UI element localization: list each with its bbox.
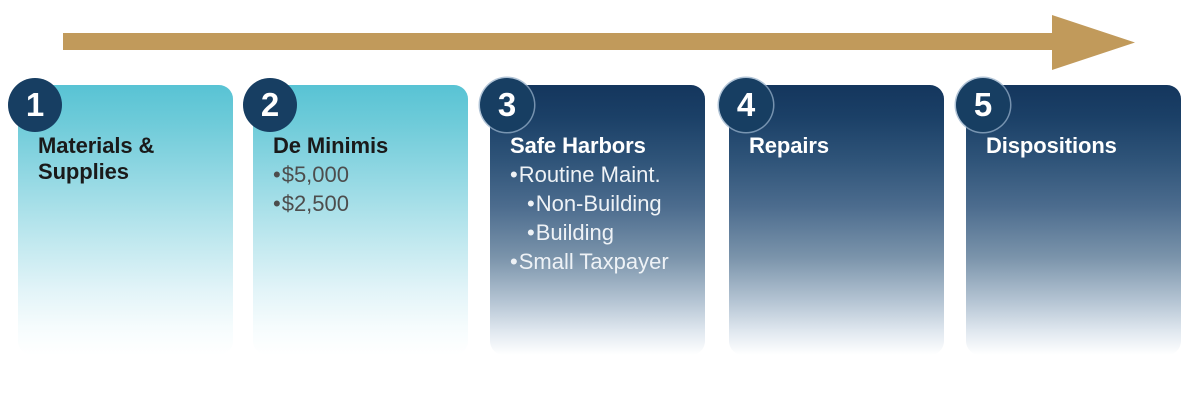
arrow-svg — [0, 0, 1200, 90]
bullet-dot-icon: • — [273, 191, 281, 216]
step-bullet-label: Routine Maint. — [519, 162, 661, 187]
step-title: Materials & Supplies — [38, 133, 225, 185]
step-bullet-label: Small Taxpayer — [519, 249, 669, 274]
step-card-body: De Minimis•$5,000•$2,500 — [273, 133, 460, 218]
process-flow-arrow — [0, 0, 1200, 90]
step-bullet-item: •Non-Building — [510, 189, 697, 218]
bullet-dot-icon: • — [527, 191, 535, 216]
step-bullet-item: •$5,000 — [273, 160, 460, 189]
step-bullet-list: •$5,000•$2,500 — [273, 160, 460, 218]
bullet-dot-icon: • — [273, 162, 281, 187]
step-bullet-label: $5,000 — [282, 162, 349, 187]
step-bullet-item: •$2,500 — [273, 189, 460, 218]
step-bullet-item: •Small Taxpayer — [510, 247, 697, 276]
step-bullet-item: •Building — [510, 218, 697, 247]
step-bullet-item: •Routine Maint. — [510, 160, 697, 189]
five-step-process-diagram: Materials & Supplies1De Minimis•$5,000•$… — [0, 0, 1200, 400]
right-arrow-icon — [63, 15, 1135, 70]
step-card-body: Repairs — [749, 133, 936, 160]
step-number-badge-5: 5 — [956, 78, 1010, 132]
step-number-badge-4: 4 — [719, 78, 773, 132]
step-title: Safe Harbors — [510, 133, 697, 159]
bullet-dot-icon: • — [510, 249, 518, 274]
step-number-badge-2: 2 — [243, 78, 297, 132]
step-number-badge-1: 1 — [8, 78, 62, 132]
step-bullet-list: •Routine Maint.•Non-Building•Building•Sm… — [510, 160, 697, 276]
step-title: Dispositions — [986, 133, 1173, 159]
step-card-body: Dispositions — [986, 133, 1173, 160]
step-card-body: Safe Harbors•Routine Maint.•Non-Building… — [510, 133, 697, 276]
step-bullet-label: Building — [536, 220, 614, 245]
step-bullet-label: $2,500 — [282, 191, 349, 216]
bullet-dot-icon: • — [510, 162, 518, 187]
step-bullet-label: Non-Building — [536, 191, 662, 216]
step-card-body: Materials & Supplies — [38, 133, 225, 186]
step-title: Repairs — [749, 133, 936, 159]
bullet-dot-icon: • — [527, 220, 535, 245]
step-title: De Minimis — [273, 133, 460, 159]
step-number-badge-3: 3 — [480, 78, 534, 132]
